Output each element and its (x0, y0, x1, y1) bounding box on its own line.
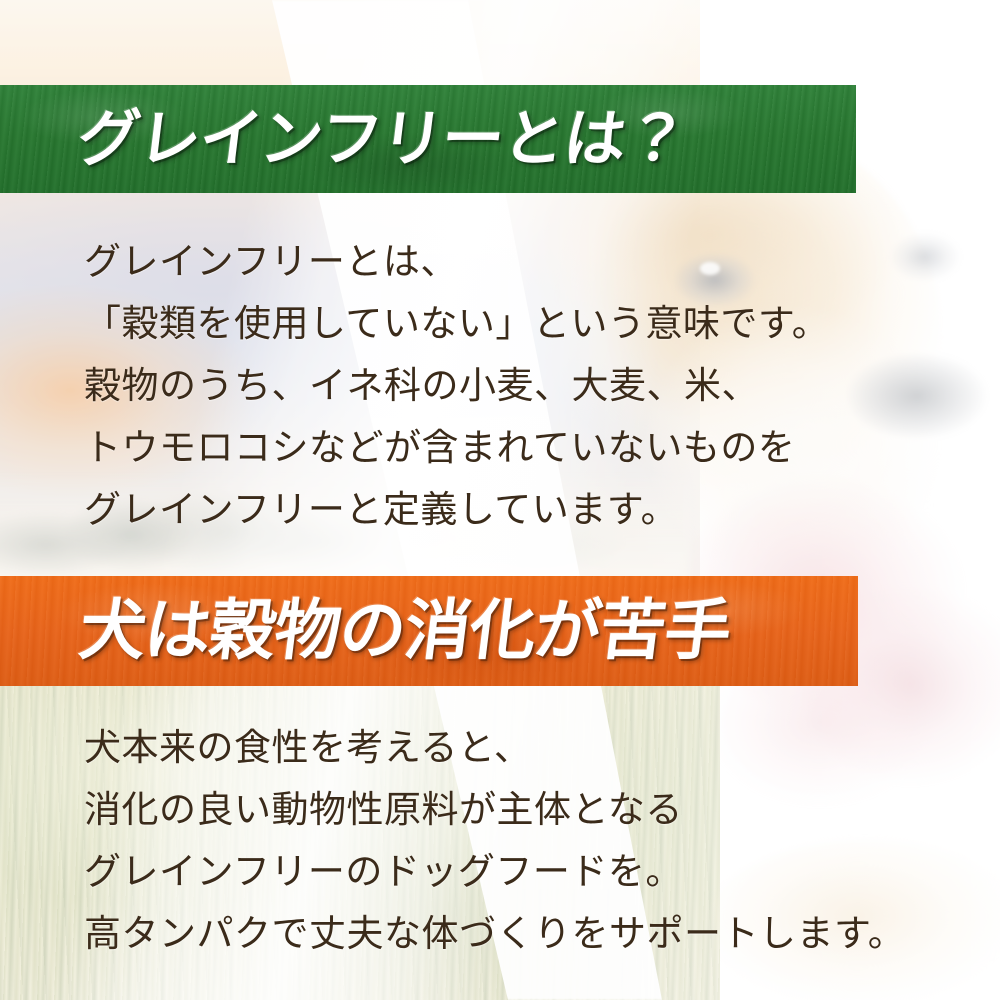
grain-free-line-5: グレインフリーと定義しています。 (84, 480, 829, 542)
digestion-banner-title: 犬は穀物の消化が苦手 (76, 598, 734, 664)
grain-free-paragraph: グレインフリーとは、 「穀類を使用していない」という意味です。 穀物のうち、イネ… (84, 232, 829, 542)
digestion-line-4: 高タンパクで丈夫な体づくりをサポートします。 (84, 904, 905, 966)
digestion-line-1: 犬本来の食性を考えると、 (84, 718, 905, 780)
digestion-line-3: グレインフリーのドッグフードを。 (84, 842, 905, 904)
grain-free-banner-title: グレインフリーとは？ (74, 108, 690, 170)
grain-free-line-1: グレインフリーとは、 (84, 232, 829, 294)
infographic-canvas: グレインフリーとは？ グレインフリーとは、 「穀類を使用していない」という意味で… (0, 0, 1000, 1000)
grain-free-banner: グレインフリーとは？ (0, 85, 856, 193)
digestion-paragraph: 犬本来の食性を考えると、 消化の良い動物性原料が主体となる グレインフリーのドッ… (84, 718, 905, 966)
grain-free-line-4: トウモロコシなどが含まれていないものを (84, 418, 829, 480)
grain-free-line-3: 穀物のうち、イネ科の小麦、大麦、米、 (84, 356, 829, 418)
grain-free-line-2: 「穀類を使用していない」という意味です。 (84, 294, 829, 356)
digestion-line-2: 消化の良い動物性原料が主体となる (84, 780, 905, 842)
digestion-banner: 犬は穀物の消化が苦手 (0, 576, 858, 686)
